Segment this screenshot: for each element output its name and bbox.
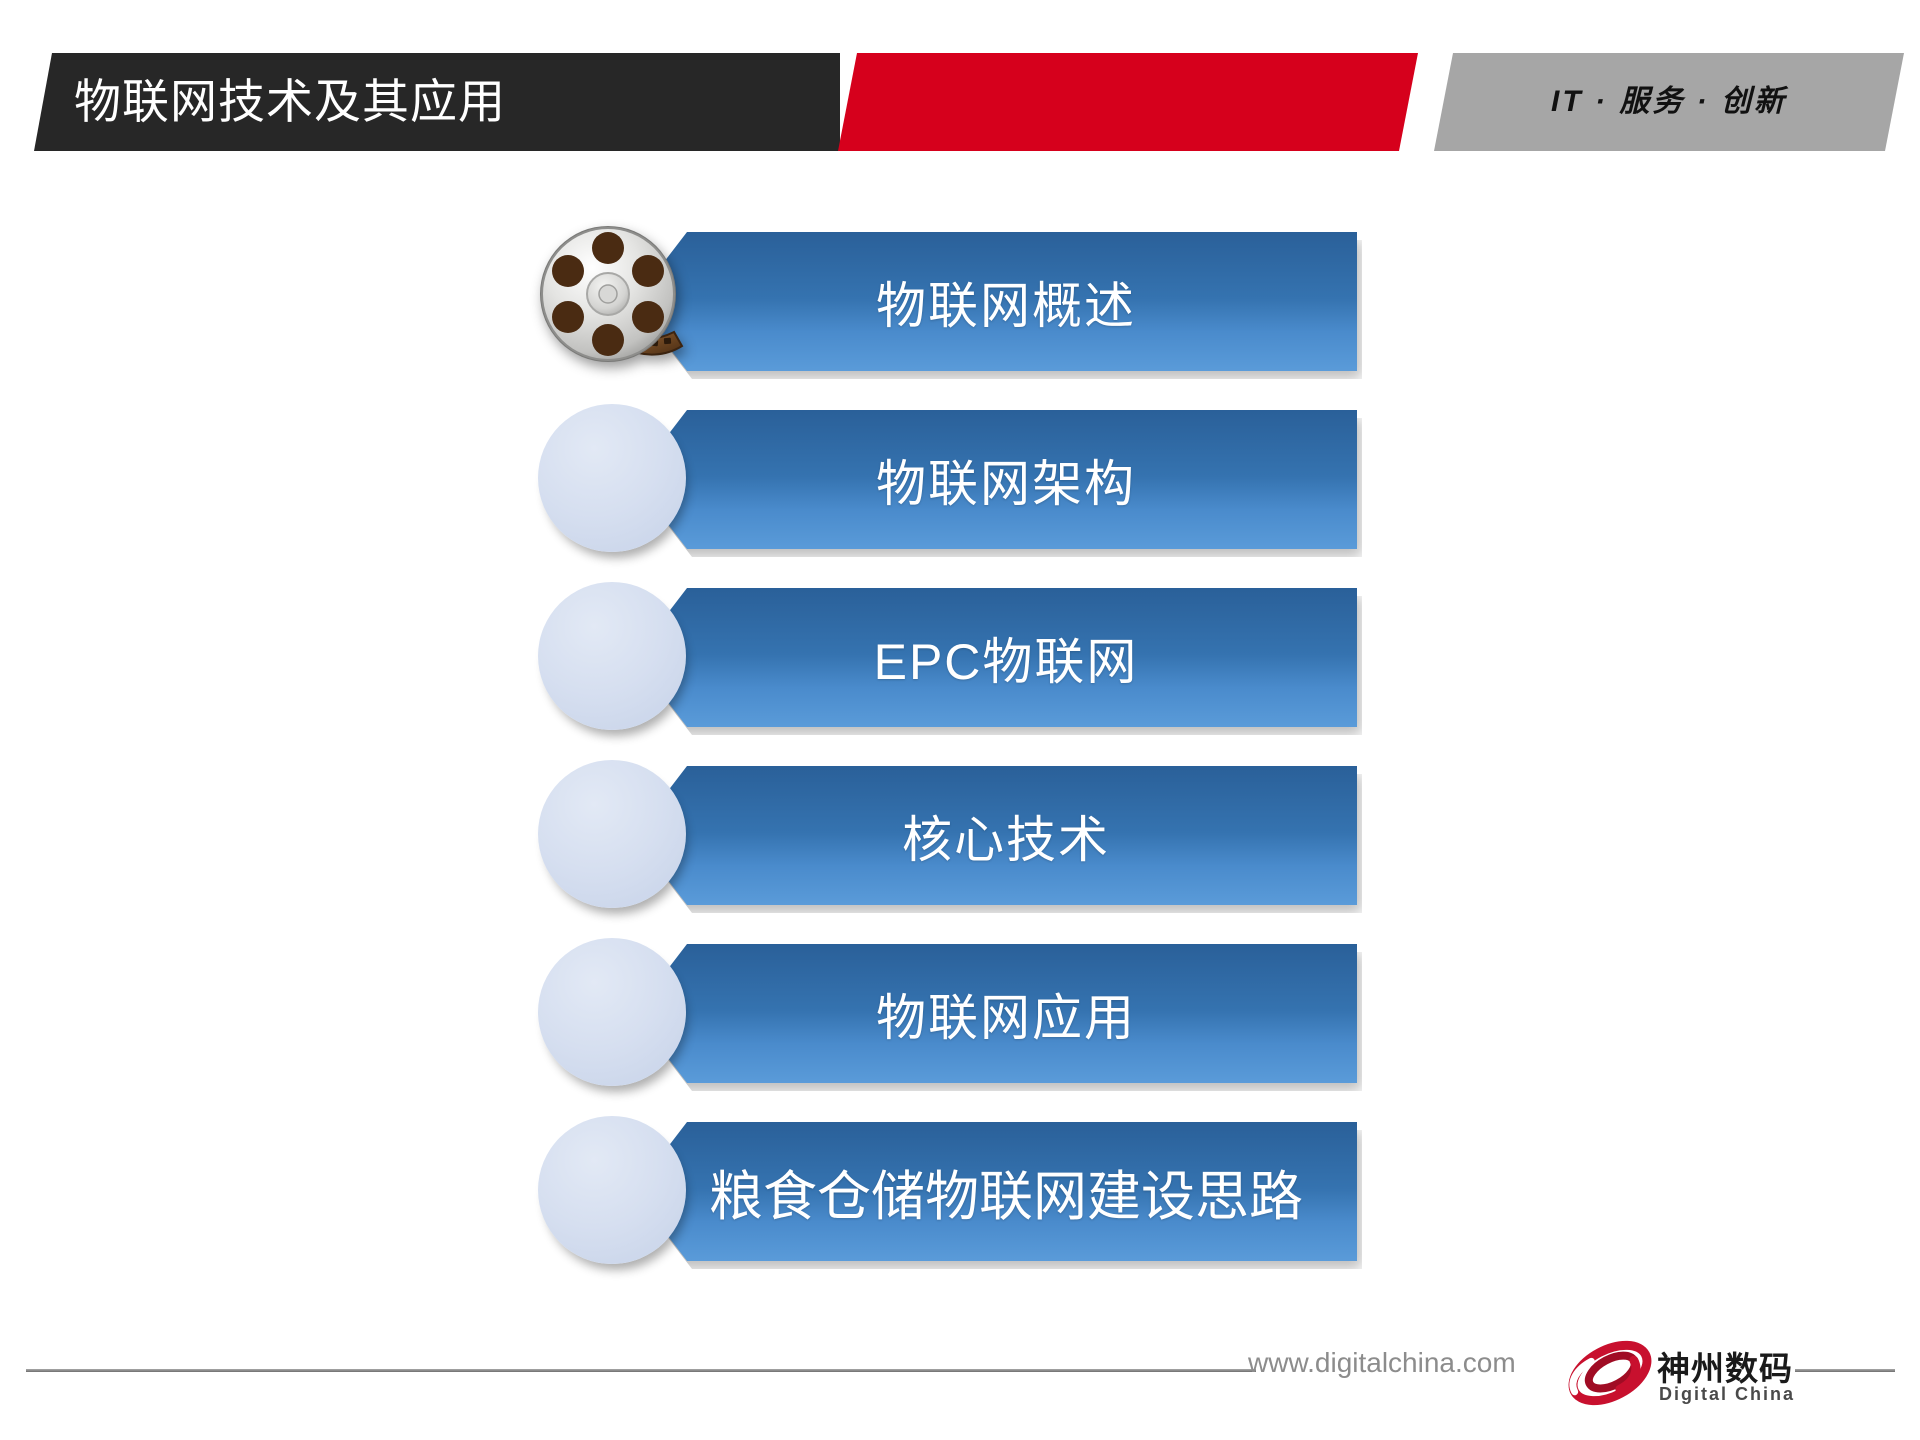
digital-china-swirl-icon (1565, 1334, 1655, 1412)
header-slogan: IT · 服务 · 创新 (1434, 53, 1904, 151)
agenda-marker-2 (538, 404, 686, 552)
agenda-marker-1 (538, 226, 686, 374)
agenda-list: 物联网概述 (0, 232, 1920, 1300)
agenda-bar[interactable]: 核心技术 (655, 766, 1357, 905)
footer-divider-left (26, 1369, 1256, 1372)
circle-marker-icon (538, 582, 686, 730)
agenda-item-6[interactable]: 粮食仓储物联网建设思路 (0, 1122, 1920, 1261)
agenda-item-label: EPC物联网 (874, 622, 1139, 694)
slide-header: 物联网技术及其应用 IT · 服务 · 创新 (0, 0, 1920, 170)
agenda-bar[interactable]: EPC物联网 (655, 588, 1357, 727)
footer-divider-right (1795, 1369, 1895, 1372)
agenda-bar[interactable]: 物联网应用 (655, 944, 1357, 1083)
agenda-item-5[interactable]: 物联网应用 (0, 944, 1920, 1083)
agenda-item-label: 粮食仓储物联网建设思路 (709, 1152, 1303, 1231)
film-reel-icon (534, 222, 690, 378)
agenda-marker-5 (538, 938, 686, 1086)
agenda-bar[interactable]: 粮食仓储物联网建设思路 (655, 1122, 1357, 1261)
agenda-item-label: 物联网架构 (876, 444, 1136, 516)
agenda-marker-6 (538, 1116, 686, 1264)
circle-marker-icon (538, 760, 686, 908)
brand-logo: 神州数码 Digital China (1565, 1328, 1795, 1420)
brand-name-en: Digital China (1659, 1384, 1795, 1405)
circle-marker-icon (538, 938, 686, 1086)
agenda-bar[interactable]: 物联网概述 (655, 232, 1357, 371)
page-title: 物联网技术及其应用 (74, 53, 506, 151)
agenda-item-label: 核心技术 (902, 800, 1110, 872)
agenda-item-label: 物联网概述 (876, 266, 1136, 338)
agenda-item-label: 物联网应用 (876, 978, 1136, 1050)
header-red-banner (838, 53, 1418, 151)
agenda-bar[interactable]: 物联网架构 (655, 410, 1357, 549)
circle-marker-icon (538, 404, 686, 552)
slide-footer: www.digitalchina.com 神州数码 Digital China (0, 1320, 1920, 1440)
brand-name-cn: 神州数码 (1657, 1342, 1793, 1390)
agenda-item-4[interactable]: 核心技术 (0, 766, 1920, 905)
agenda-item-3[interactable]: EPC物联网 (0, 588, 1920, 727)
agenda-marker-3 (538, 582, 686, 730)
agenda-item-1[interactable]: 物联网概述 (0, 232, 1920, 371)
agenda-item-2[interactable]: 物联网架构 (0, 410, 1920, 549)
circle-marker-icon (538, 1116, 686, 1264)
agenda-marker-4 (538, 760, 686, 908)
footer-website-url[interactable]: www.digitalchina.com (1248, 1347, 1516, 1379)
